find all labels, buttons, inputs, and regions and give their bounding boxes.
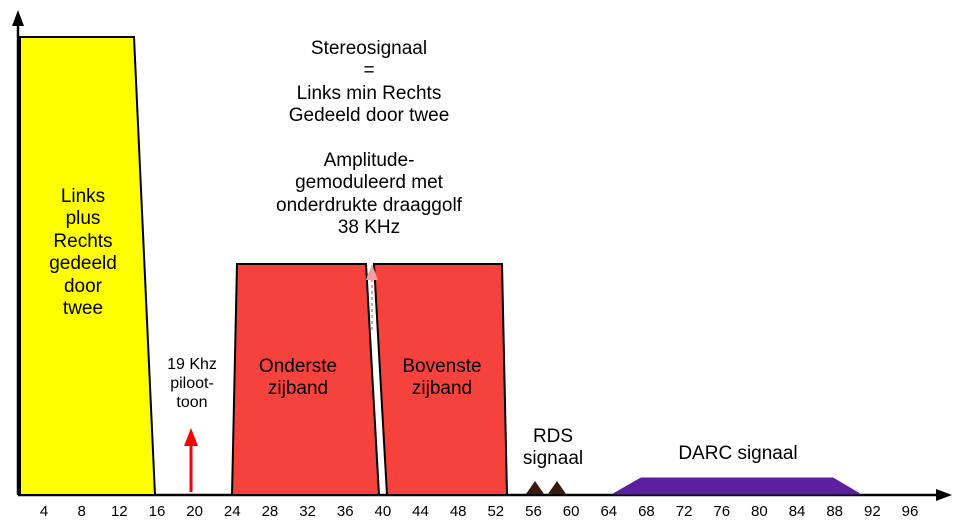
label-mono-line-2: plus bbox=[27, 208, 139, 230]
annotation-stereo-line-3: Links min Rechts bbox=[258, 83, 480, 105]
annotation-amplitude-line-3: onderdrukte draaggolf bbox=[243, 195, 495, 217]
x-tick-label: 96 bbox=[895, 503, 925, 520]
x-tick-label: 80 bbox=[744, 503, 774, 520]
annotation-stereo-line-4: Gedeeld door twee bbox=[258, 105, 480, 127]
annotation-stereo-line-2: = bbox=[258, 60, 480, 82]
label-upper-sideband-line-1: Bovenste bbox=[381, 356, 503, 378]
x-tick-label: 16 bbox=[142, 503, 172, 520]
label-darc-signal: DARC signaal bbox=[628, 443, 848, 465]
chart-canvas: Links plus Rechts gedeeld door twee 19 K… bbox=[0, 0, 960, 530]
label-pilot-line-2: piloot- bbox=[150, 375, 234, 394]
annotation-amplitude: Amplitude- gemoduleerd met onderdrukte d… bbox=[243, 150, 495, 240]
annotation-stereosignaal: Stereosignaal = Links min Rechts Gedeeld… bbox=[258, 38, 480, 128]
x-tick-label: 8 bbox=[67, 503, 97, 520]
x-tick-label: 72 bbox=[669, 503, 699, 520]
label-pilot-tone: 19 Khz piloot- toon bbox=[150, 356, 234, 413]
label-mono-block: Links plus Rechts gedeeld door twee bbox=[27, 186, 139, 320]
annotation-stereo-line-1: Stereosignaal bbox=[258, 38, 480, 60]
x-tick-label: 20 bbox=[180, 503, 210, 520]
series-darc-signal bbox=[613, 478, 860, 494]
x-tick-label: 68 bbox=[631, 503, 661, 520]
x-tick-label: 84 bbox=[782, 503, 812, 520]
label-mono-line-6: twee bbox=[27, 298, 139, 320]
label-mono-line-1: Links bbox=[27, 186, 139, 208]
label-lower-sideband: Onderste zijband bbox=[237, 356, 359, 401]
x-tick-label: 28 bbox=[255, 503, 285, 520]
x-tick-label: 64 bbox=[594, 503, 624, 520]
label-upper-sideband-line-2: zijband bbox=[381, 378, 503, 400]
x-tick-label: 48 bbox=[443, 503, 473, 520]
label-pilot-line-3: toon bbox=[150, 394, 234, 413]
label-mono-line-3: Rechts bbox=[27, 231, 139, 253]
x-tick-label: 40 bbox=[368, 503, 398, 520]
label-pilot-line-1: 19 Khz bbox=[150, 356, 234, 375]
x-tick-label: 76 bbox=[707, 503, 737, 520]
series-rds-signal bbox=[526, 481, 566, 494]
x-tick-label: 36 bbox=[330, 503, 360, 520]
x-tick-label: 92 bbox=[857, 503, 887, 520]
annotation-amplitude-line-2: gemoduleerd met bbox=[243, 172, 495, 194]
label-lower-sideband-line-1: Onderste bbox=[237, 356, 359, 378]
x-tick-label: 56 bbox=[518, 503, 548, 520]
annotation-amplitude-line-1: Amplitude- bbox=[243, 150, 495, 172]
label-upper-sideband: Bovenste zijband bbox=[381, 356, 503, 401]
x-tick-label: 4 bbox=[29, 503, 59, 520]
label-mono-line-5: door bbox=[27, 276, 139, 298]
series-pilot-tone-arrow bbox=[184, 428, 198, 492]
annotation-amplitude-line-4: 38 KHz bbox=[243, 217, 495, 239]
x-tick-label: 60 bbox=[556, 503, 586, 520]
label-mono-line-4: gedeeld bbox=[27, 253, 139, 275]
x-tick-label: 12 bbox=[104, 503, 134, 520]
x-tick-label: 24 bbox=[217, 503, 247, 520]
x-tick-label: 88 bbox=[820, 503, 850, 520]
label-rds-line-2: signaal bbox=[503, 448, 603, 470]
x-tick-label: 32 bbox=[293, 503, 323, 520]
label-rds-signal: RDS signaal bbox=[503, 426, 603, 471]
x-tick-label: 44 bbox=[406, 503, 436, 520]
label-lower-sideband-line-2: zijband bbox=[237, 378, 359, 400]
label-rds-line-1: RDS bbox=[503, 426, 603, 448]
x-tick-label: 52 bbox=[481, 503, 511, 520]
